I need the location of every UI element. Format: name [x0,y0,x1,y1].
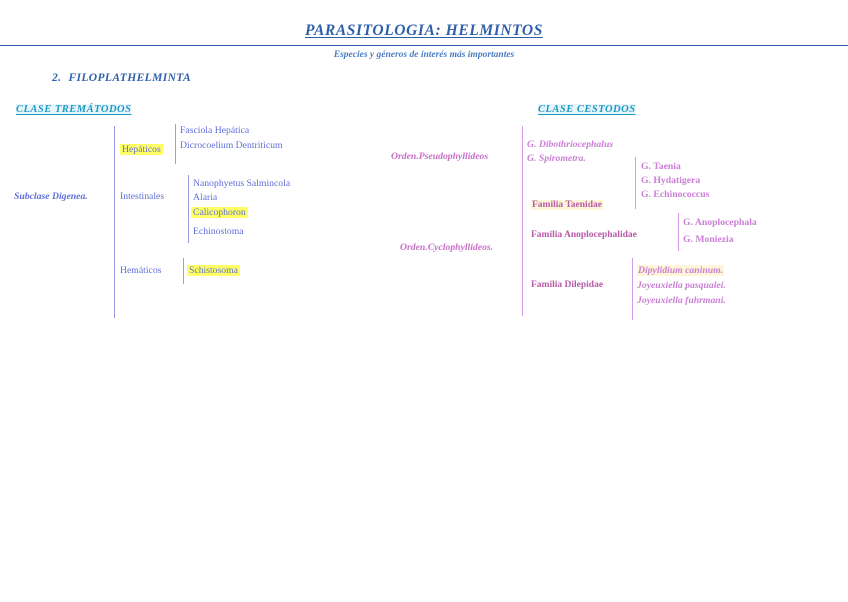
order-pseudophyllideos-label: Orden.Pseudophyllideos [391,150,488,164]
genus-moniezia: G. Moniezia [683,233,734,247]
family-dilepidae: Familia Dilepidae [531,279,603,293]
section-number: 2. [52,72,61,84]
group-hepaticos: Hepáticos [120,143,163,157]
genus-echinococcus: G. Echinococcus [641,188,709,202]
genus-anoplocephala: G. Anoplocephala [683,216,757,230]
tree-line-order-pseudophyllideos [522,126,523,316]
subclass-digenea-label: Subclase Digenea. [14,190,88,204]
class-heading-trematodos: CLASE TREMÁTODOS [16,104,131,115]
genus-hydatigera: G. Hydatigera [641,174,700,188]
section-label: FILOPLATHELMINTA [68,72,191,84]
tree-line-hepaticos [175,124,176,164]
species-calicophoron-label: Calicophoron [191,207,248,218]
class-heading-cestodos: CLASE CESTODOS [538,104,636,115]
species-calicophoron: Calicophoron [191,206,248,220]
species-alaria: Alaria [193,191,217,205]
tree-line-family-taenidae [635,157,636,209]
genus-dibothriocephalus: G. Dibothriocephalus [527,138,613,152]
species-schistosoma: Schistosoma [187,264,240,278]
tree-line-subclass [114,126,115,318]
species-echinostoma: Echinostoma [193,225,244,239]
tree-line-intestinales [188,175,189,243]
genus-taenia: G. Taenia [641,160,681,174]
species-dicrocoelium: Dicrocoelium Dentriticum [180,139,283,153]
genus-dipylidium: Dipylidium caninum. [637,264,724,278]
family-taenidae: Familia Taenidae [531,199,603,213]
genus-joyeuxiella-fuhrmani: Joyeuxiella fuhrmani. [637,294,726,308]
species-fasciola: Fasciola Hepática [180,124,249,138]
genus-dipylidium-label: Dipylidium caninum. [637,265,724,276]
tree-line-family-dilepidae [632,258,633,320]
section-heading: 2.FILOPLATHELMINTA [52,72,191,84]
group-hepaticos-label: Hepáticos [120,144,163,155]
order-cyclophyllideos-label: Orden.Cyclophyllideos. [400,241,493,255]
genus-joyeuxiella-pasqualei: Joyeuxiella pasqualei. [637,279,726,293]
group-intestinales: Intestinales [120,190,164,204]
family-taenidae-label: Familia Taenidae [531,200,603,210]
page-title: PARASITOLOGIA: HELMINTOS [0,22,848,40]
document-header: PARASITOLOGIA: HELMINTOS [0,22,848,40]
family-anoplocephalidae: Familia Anoplocephalidae [531,229,637,243]
group-hematicos: Hemáticos [120,264,161,278]
species-schistosoma-label: Schistosoma [187,265,240,276]
genus-spirometra: G. Spirometra. [527,152,586,166]
header-divider [0,45,848,46]
tree-line-family-anoplocephalidae [678,213,679,251]
tree-line-hematicos [183,258,184,284]
page-subtitle: Especies y géneros de interés más import… [0,49,848,62]
species-nanophyetus: Nanophyetus Salmincola [193,177,290,191]
